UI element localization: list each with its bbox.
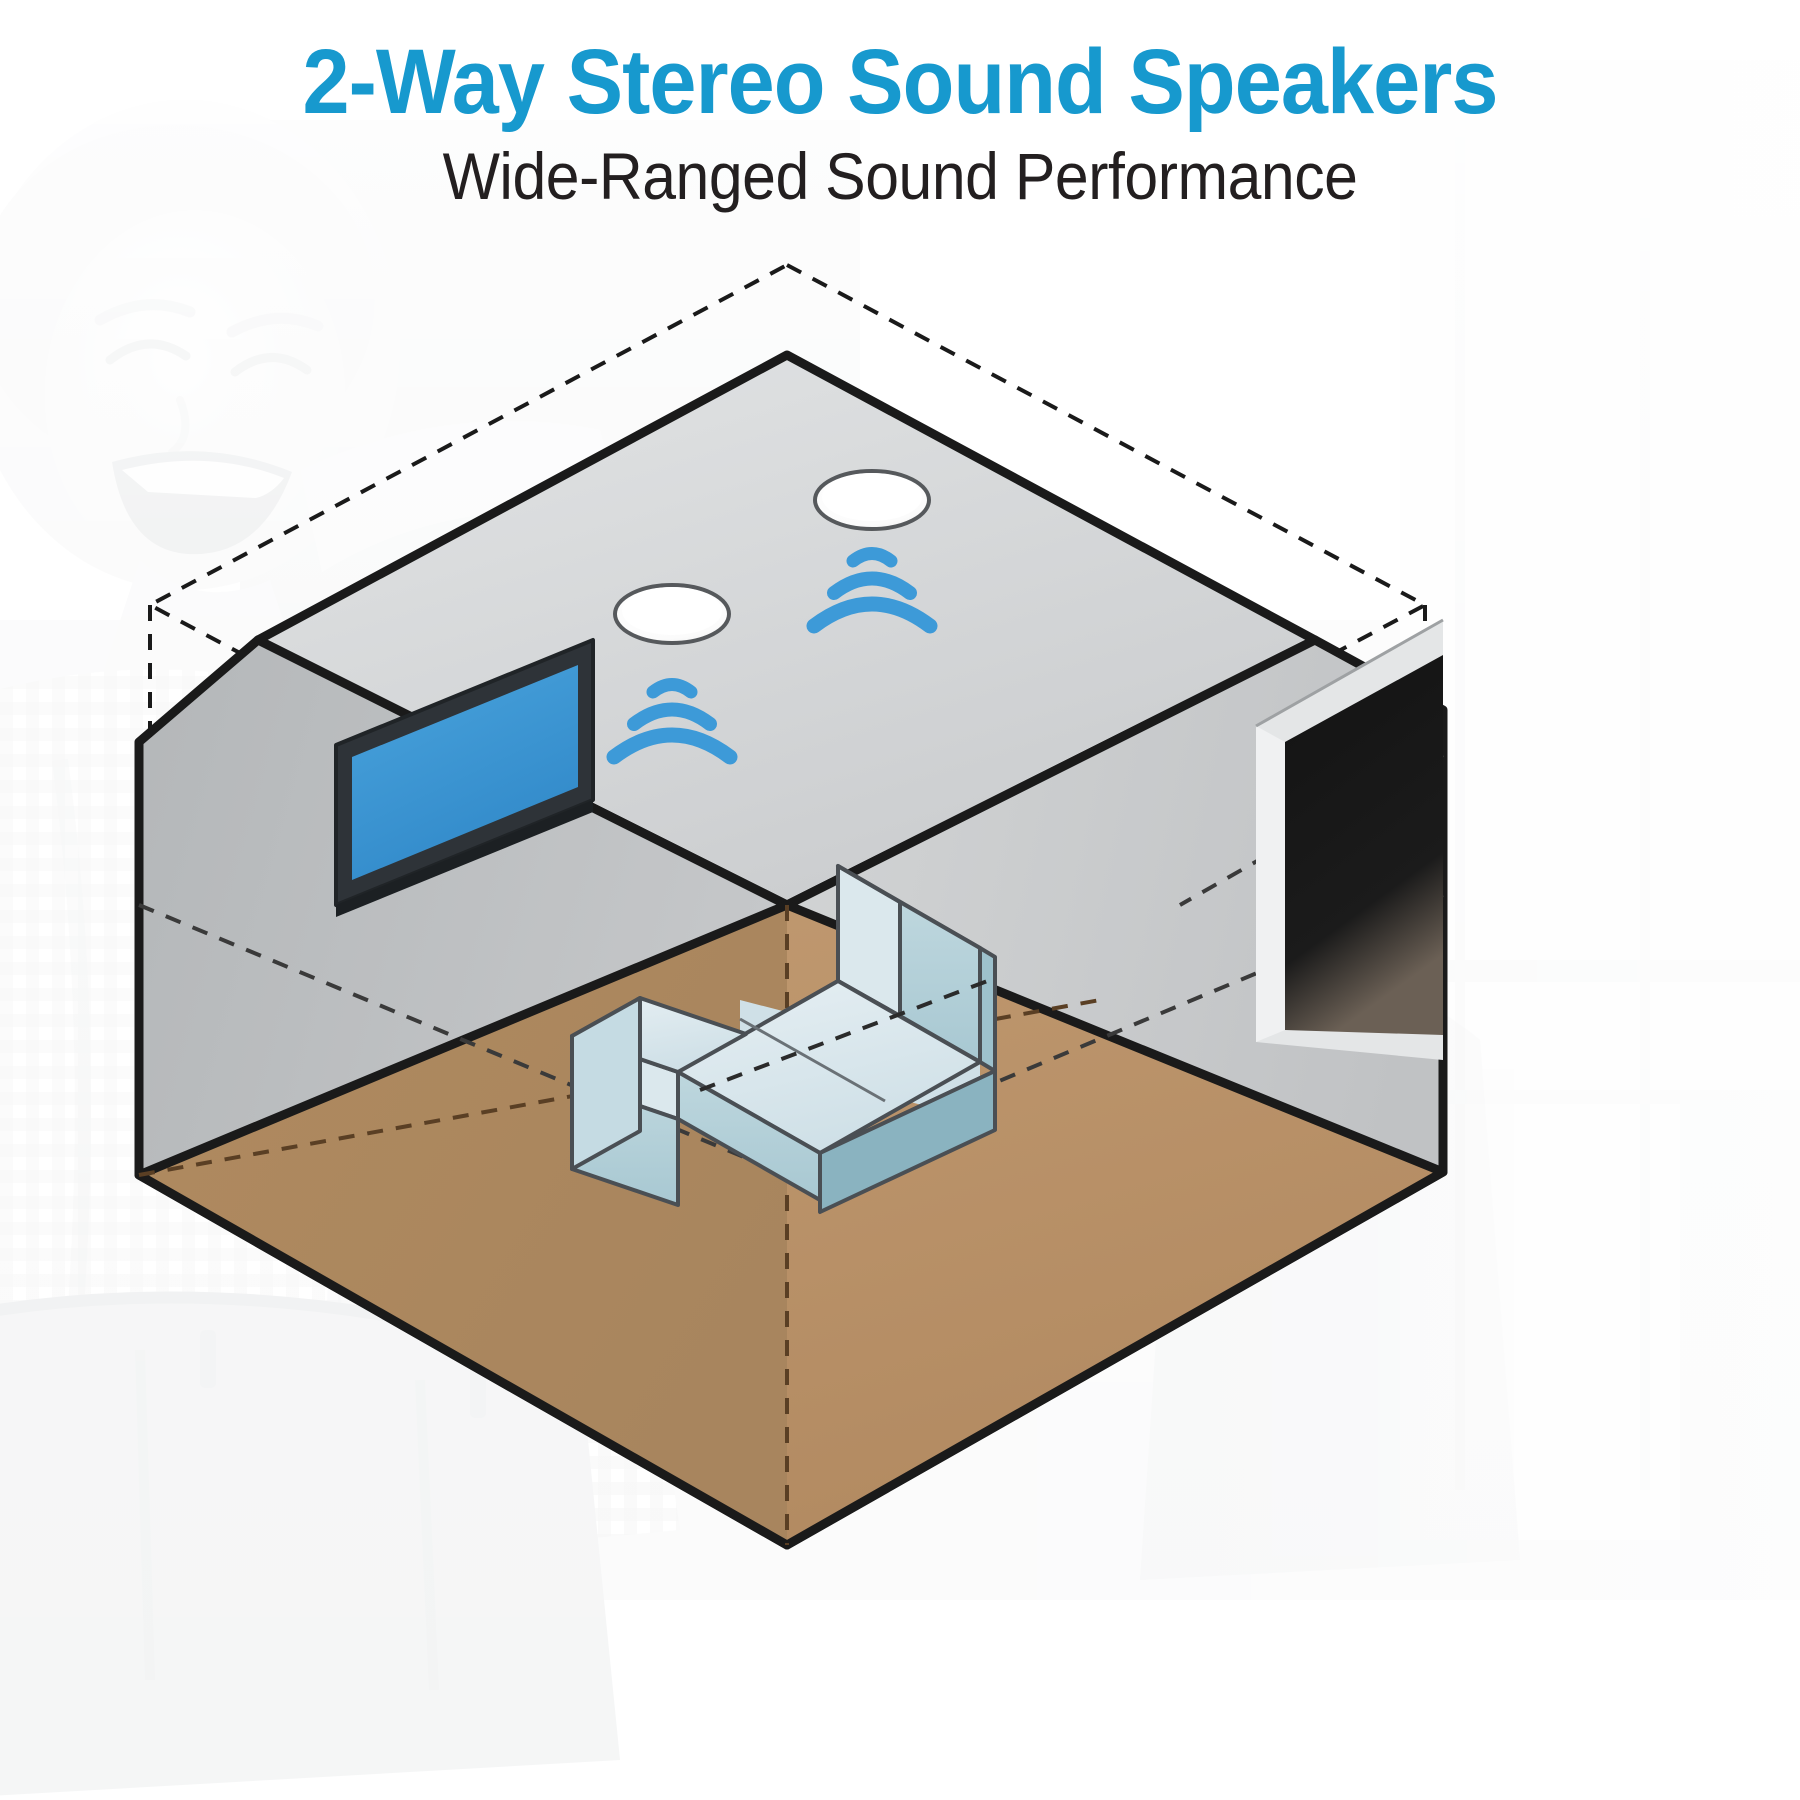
isometric-room-diagram	[0, 0, 1800, 1800]
ceiling-speaker-left	[615, 585, 729, 643]
product-feature-image: 2-Way Stereo Sound Speakers Wide-Ranged …	[0, 0, 1800, 1800]
ceiling-speaker-right	[815, 471, 929, 529]
